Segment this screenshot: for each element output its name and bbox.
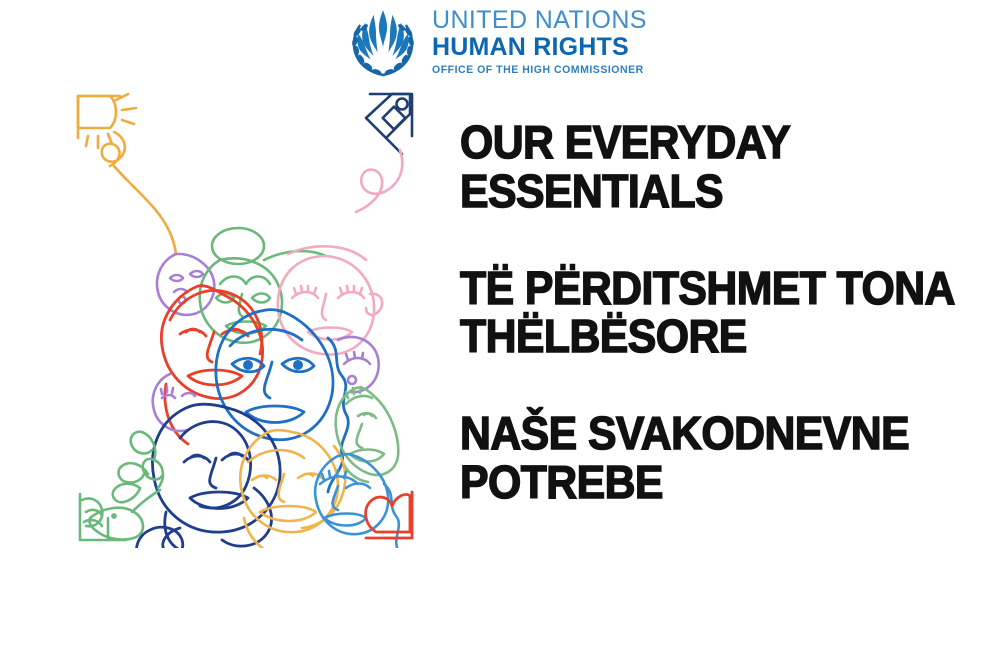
face-purple-upper xyxy=(157,254,214,315)
heart-icon xyxy=(366,492,412,538)
pink-connector-line xyxy=(356,150,402,212)
orange-connector-line xyxy=(114,166,176,254)
headline-block: OUR EVERYDAY ESSENTIALS TË PËRDITSHMET T… xyxy=(460,118,990,507)
sun-icon xyxy=(78,94,136,166)
headline-english: OUR EVERYDAY ESSENTIALS xyxy=(460,118,962,216)
logo-line-united-nations: UNITED NATIONS xyxy=(432,8,657,34)
headline-serbian: NAŠE SVAKODNEVNE POTREBE xyxy=(460,409,962,507)
faces-illustration-svg xyxy=(70,88,420,548)
face-green-topknot xyxy=(200,228,282,343)
un-human-rights-flame-laurel-emblem xyxy=(344,4,422,82)
un-human-rights-logo: UNITED NATIONS HUMAN RIGHTS OFFICE OF TH… xyxy=(344,4,657,82)
poster-canvas: UNITED NATIONS HUMAN RIGHTS OFFICE OF TH… xyxy=(0,0,990,660)
dove-olive-branch-icon xyxy=(80,432,163,540)
face-purple-lower xyxy=(153,374,195,431)
face-blue-central xyxy=(216,310,348,492)
diverse-faces-line-art xyxy=(70,88,420,548)
logo-line-human-rights: HUMAN RIGHTS xyxy=(432,34,657,61)
logo-wordmark: UNITED NATIONS HUMAN RIGHTS OFFICE OF TH… xyxy=(432,4,657,77)
headline-albanian: TË PËRDITSHMET TONA THËLBËSORE xyxy=(460,264,962,362)
price-tag-icon xyxy=(366,94,412,154)
logo-line-office-of-the-high-commissioner: OFFICE OF THE HIGH COMMISSIONER xyxy=(432,63,644,77)
